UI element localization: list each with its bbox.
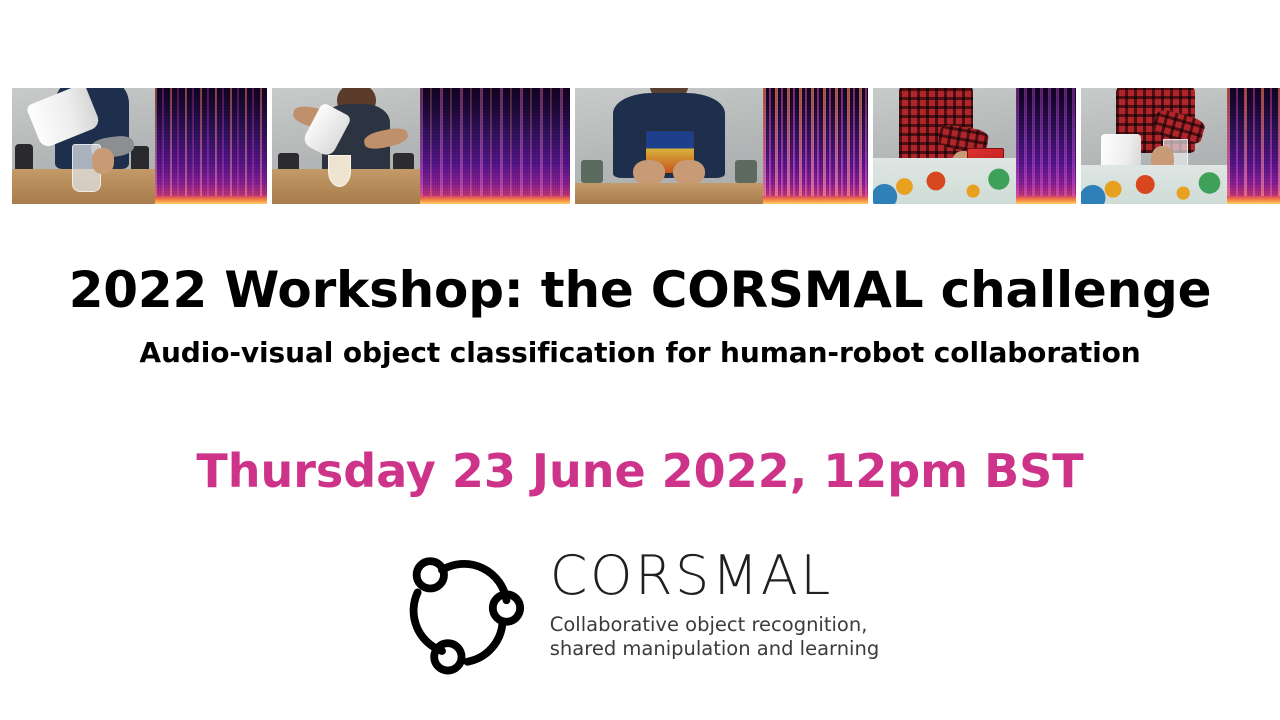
spectrogram-noise [155,88,267,204]
event-date: Thursday 23 June 2022, 12pm BST [0,447,1280,495]
scene-hand [92,148,113,174]
spectrogram-low-band [420,196,570,204]
filmstrip-photo-panel-3 [575,88,763,204]
page-title: 2022 Workshop: the CORSMAL challenge [0,264,1280,317]
corsmal-logo: CORSMAL Collaborative object recognition… [0,545,1280,675]
spectrogram-low-band [763,196,868,204]
scene-chair-right [735,160,758,183]
spectrogram-noise [420,88,570,204]
scene-chair-right [131,146,150,172]
scene-tablecloth [873,158,1016,204]
scene-chair [581,160,604,183]
corsmal-tagline: Collaborative object recognition, shared… [550,613,879,661]
corsmal-circle-of-friends-icon [401,545,526,675]
spectrogram-noise [1016,88,1076,204]
corsmal-tagline-line-2: shared manipulation and learning [550,637,879,661]
filmstrip-spectrogram-panel-4 [1016,88,1076,204]
spectrogram-low-band [1016,196,1076,204]
filmstrip-photo-panel-1 [12,88,155,204]
corsmal-wordmark: CORSMAL [550,549,879,603]
corsmal-logo-text: CORSMAL Collaborative object recognition… [550,545,879,661]
scene-table [575,183,763,204]
filmstrip-photo-panel-4 [873,88,1016,204]
spectrogram-noise [763,88,868,204]
scene-chair [15,144,34,172]
filmstrip-spectrogram-panel-5 [1227,88,1280,204]
scene-tablecloth [1081,165,1227,204]
filmstrip-banner [12,88,1268,204]
scene-hand-left [633,160,665,186]
spectrogram-noise [1227,88,1280,204]
filmstrip-group-5 [1081,88,1280,204]
scene-hand-right [673,160,705,186]
corsmal-tagline-line-1: Collaborative object recognition, [550,613,879,637]
filmstrip-group-4 [873,88,1076,204]
page-subtitle: Audio-visual object classification for h… [0,338,1280,367]
filmstrip-spectrogram-panel-3 [763,88,868,204]
spectrogram-low-band [155,196,267,204]
filmstrip-photo-panel-5 [1081,88,1227,204]
filmstrip-group-2 [272,88,570,204]
filmstrip-spectrogram-panel-2 [420,88,570,204]
filmstrip-spectrogram-panel-1 [155,88,267,204]
filmstrip-group-3 [575,88,868,204]
spectrogram-low-band [1227,196,1280,204]
filmstrip-photo-panel-2 [272,88,420,204]
filmstrip-group-1 [12,88,267,204]
